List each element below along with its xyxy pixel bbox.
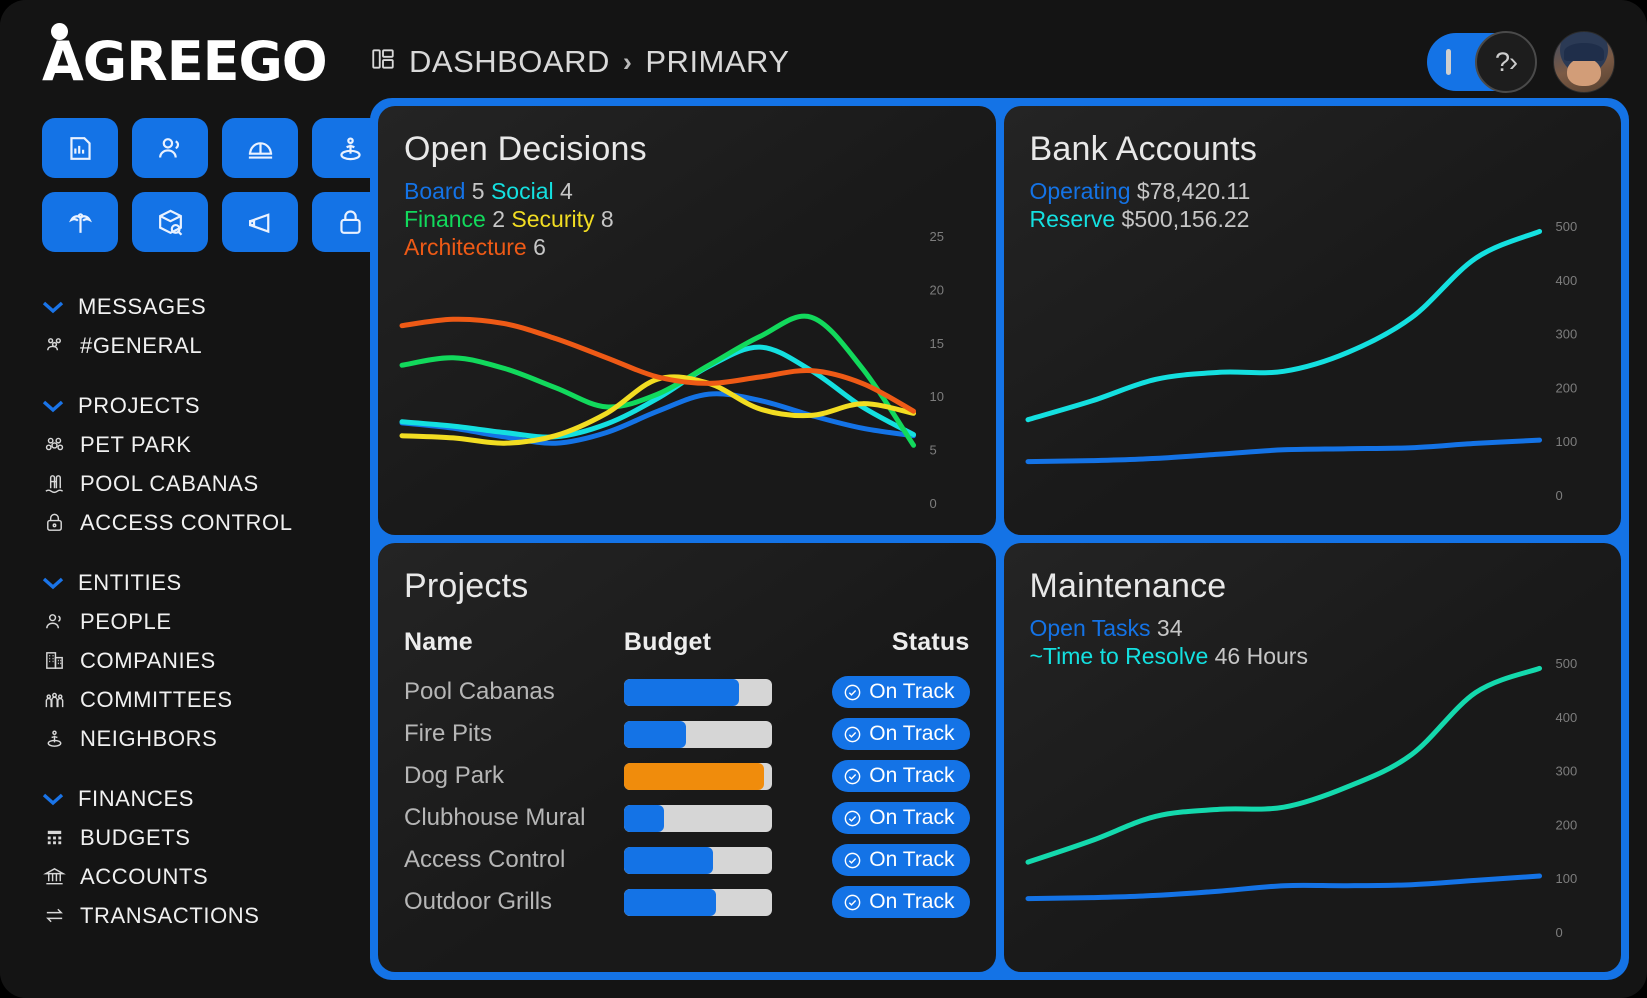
nav-group-finances: FINANCES BUDGETS ACCOUNTS TRANSACTIONS xyxy=(42,780,370,935)
sidebar-item-pool-cabanas[interactable]: POOL CABANAS xyxy=(42,464,370,503)
sidebar-item-label: TRANSACTIONS xyxy=(80,903,260,929)
sidebar-item-label: NEIGHBORS xyxy=(80,726,217,752)
y-axis-tick: 100 xyxy=(1555,434,1577,449)
tile-construction[interactable] xyxy=(222,118,298,178)
sidebar-item-general[interactable]: #GENERAL xyxy=(42,326,370,365)
y-axis-tick: 500 xyxy=(1555,656,1577,671)
sidebar-item-label: PET PARK xyxy=(80,432,192,458)
committee-icon xyxy=(42,688,66,712)
y-axis-tick: 300 xyxy=(1555,764,1577,779)
sidebar-item-label: ACCOUNTS xyxy=(80,864,208,890)
legend-label-board: Board xyxy=(404,178,465,204)
tile-announcements[interactable] xyxy=(222,192,298,252)
main-content: DASHBOARD › PRIMARY ?› Open Decisions Bo… xyxy=(370,0,1647,998)
y-axis-tick: 200 xyxy=(1555,817,1577,832)
budget-progress-bar xyxy=(624,889,772,916)
nav-head-projects[interactable]: PROJECTS xyxy=(42,387,370,425)
y-axis-tick: 20 xyxy=(930,282,944,297)
paw-icon xyxy=(42,433,66,457)
y-axis-tick: 10 xyxy=(930,389,944,404)
tile-inventory[interactable] xyxy=(132,192,208,252)
status-badge[interactable]: On Track xyxy=(832,844,969,876)
budget-progress-bar xyxy=(624,721,772,748)
quick-tiles xyxy=(42,118,370,252)
projects-table-body: Pool CabanasOn TrackFire PitsOn TrackDog… xyxy=(404,671,970,923)
y-axis-tick: 0 xyxy=(1555,925,1562,940)
user-avatar[interactable] xyxy=(1553,31,1615,93)
chart-line-operating xyxy=(1028,440,1540,462)
y-axis-tick: 15 xyxy=(930,336,944,351)
topbar: DASHBOARD › PRIMARY ?› xyxy=(370,26,1629,98)
budget-progress-bar xyxy=(624,847,772,874)
transfer-arrows-icon xyxy=(42,904,66,928)
project-budget-cell xyxy=(624,797,803,839)
legend-value-operating: $78,420.11 xyxy=(1137,178,1250,204)
check-circle-icon xyxy=(843,851,862,870)
y-axis-tick: 0 xyxy=(930,496,937,511)
grid-dots-icon xyxy=(42,826,66,850)
status-badge[interactable]: On Track xyxy=(832,886,969,918)
maintenance-chart: 5004003002001000 xyxy=(1028,653,1598,942)
status-label: On Track xyxy=(869,890,954,914)
sidebar-item-access-control[interactable]: ACCESS CONTROL xyxy=(42,503,370,542)
dashboard-grid: Open Decisions Board 5 Social 4 Finance … xyxy=(370,98,1629,980)
chevron-down-icon xyxy=(42,395,64,417)
check-circle-icon xyxy=(843,893,862,912)
check-circle-icon xyxy=(843,809,862,828)
table-row[interactable]: Pool CabanasOn Track xyxy=(404,671,970,713)
card-title: Projects xyxy=(404,567,970,606)
table-row[interactable]: Outdoor GrillsOn Track xyxy=(404,881,970,923)
status-label: On Track xyxy=(869,806,954,830)
projects-table: Name Budget Status Pool CabanasOn TrackF… xyxy=(404,628,970,923)
legend-value-board: 5 xyxy=(472,178,485,204)
nav-group-projects: PROJECTS PET PARK POOL CABANAS ACCESS CO… xyxy=(42,387,370,542)
nav-head-entities[interactable]: ENTITIES xyxy=(42,564,370,602)
chevron-down-icon xyxy=(42,788,64,810)
check-circle-icon xyxy=(843,683,862,702)
budget-progress-bar xyxy=(624,763,772,790)
project-name: Pool Cabanas xyxy=(404,671,624,713)
tile-reports[interactable] xyxy=(42,118,118,178)
tile-landscape[interactable] xyxy=(42,192,118,252)
sidebar-item-neighbors[interactable]: NEIGHBORS xyxy=(42,719,370,758)
sidebar-item-people[interactable]: PEOPLE xyxy=(42,602,370,641)
project-name: Dog Park xyxy=(404,755,624,797)
table-row[interactable]: Access ControlOn Track xyxy=(404,839,970,881)
project-name: Clubhouse Mural xyxy=(404,797,624,839)
help-toggle[interactable]: ?› xyxy=(1427,33,1535,91)
column-header-budget: Budget xyxy=(624,628,803,671)
nav-head-finances[interactable]: FINANCES xyxy=(42,780,370,818)
card-title: Maintenance xyxy=(1030,567,1596,606)
y-axis-tick: 100 xyxy=(1555,871,1577,886)
breadcrumb: DASHBOARD › PRIMARY xyxy=(370,44,790,80)
status-badge[interactable]: On Track xyxy=(832,802,969,834)
sidebar-item-label: COMPANIES xyxy=(80,648,216,674)
nav-head-messages[interactable]: MESSAGES xyxy=(42,288,370,326)
card-maintenance: Maintenance Open Tasks 34 ~Time to Resol… xyxy=(1004,543,1622,972)
logo-mark: A xyxy=(42,30,83,93)
check-circle-icon xyxy=(843,725,862,744)
chart-line-reserve xyxy=(1028,231,1540,419)
status-label: On Track xyxy=(869,722,954,746)
nav-head-label: FINANCES xyxy=(78,786,194,812)
table-header-row: Name Budget Status xyxy=(404,628,970,671)
status-badge[interactable]: On Track xyxy=(832,760,969,792)
app-logo[interactable]: AGREEGO xyxy=(42,30,370,92)
project-budget-cell xyxy=(624,713,803,755)
project-budget-cell xyxy=(624,755,803,797)
nav-head-label: MESSAGES xyxy=(78,294,206,320)
chevron-down-icon xyxy=(42,572,64,594)
tile-people[interactable] xyxy=(132,118,208,178)
project-status-cell: On Track xyxy=(803,713,969,755)
card-title: Open Decisions xyxy=(404,130,970,169)
table-row[interactable]: Fire PitsOn Track xyxy=(404,713,970,755)
project-status-cell: On Track xyxy=(803,671,969,713)
sidebar-item-pet-park[interactable]: PET PARK xyxy=(42,425,370,464)
status-label: On Track xyxy=(869,764,954,788)
people-icon xyxy=(42,610,66,634)
layout-dashboard-icon xyxy=(370,44,396,80)
project-budget-cell xyxy=(624,881,803,923)
sidebar-item-companies[interactable]: COMPANIES xyxy=(42,641,370,680)
nav-group-entities: ENTITIES PEOPLE COMPANIES COMMITTEES NEI… xyxy=(42,564,370,758)
sidebar-item-label: POOL CABANAS xyxy=(80,471,259,497)
table-row[interactable]: Dog ParkOn Track xyxy=(404,755,970,797)
card-bank-accounts: Bank Accounts Operating $78,420.11 Reser… xyxy=(1004,106,1622,535)
toggle-track-bar xyxy=(1446,49,1451,75)
project-status-cell: On Track xyxy=(803,839,969,881)
legend-value-open-tasks: 34 xyxy=(1157,615,1183,641)
nav-group-messages: MESSAGES #GENERAL xyxy=(42,288,370,365)
sidebar-nav: MESSAGES #GENERAL PROJECTS PET PARK xyxy=(42,288,370,935)
column-header-status: Status xyxy=(803,628,969,671)
sidebar-item-accounts[interactable]: ACCOUNTS xyxy=(42,857,370,896)
status-badge[interactable]: On Track xyxy=(832,676,969,708)
building-icon xyxy=(42,649,66,673)
breadcrumb-item-primary[interactable]: PRIMARY xyxy=(645,44,789,80)
y-axis-tick: 400 xyxy=(1555,273,1577,288)
bank-accounts-chart: 5004003002001000 xyxy=(1028,216,1598,505)
help-toggle-knob[interactable]: ?› xyxy=(1475,31,1537,93)
legend-label-open-tasks: Open Tasks xyxy=(1030,615,1151,641)
project-name: Access Control xyxy=(404,839,624,881)
legend-label-social: Social xyxy=(491,178,554,204)
y-axis-tick: 400 xyxy=(1555,710,1577,725)
y-axis-tick: 200 xyxy=(1555,380,1577,395)
legend-value-social: 4 xyxy=(560,178,573,204)
group-chat-icon xyxy=(42,334,66,358)
card-open-decisions: Open Decisions Board 5 Social 4 Finance … xyxy=(378,106,996,535)
sidebar-item-transactions[interactable]: TRANSACTIONS xyxy=(42,896,370,935)
fountain-icon xyxy=(42,727,66,751)
status-label: On Track xyxy=(869,680,954,704)
app-window: AGREEGO xyxy=(0,0,1647,998)
budget-progress-bar xyxy=(624,679,772,706)
nav-head-label: ENTITIES xyxy=(78,570,182,596)
sidebar-item-label: PEOPLE xyxy=(80,609,172,635)
project-name: Fire Pits xyxy=(404,713,624,755)
open-decisions-chart: 2520151050 xyxy=(402,226,972,513)
logo-text: GREEGO xyxy=(83,30,327,93)
sidebar: AGREEGO xyxy=(0,0,370,998)
breadcrumb-separator: › xyxy=(623,47,633,78)
nav-head-label: PROJECTS xyxy=(78,393,200,419)
table-row[interactable]: Clubhouse MuralOn Track xyxy=(404,797,970,839)
status-label: On Track xyxy=(869,848,954,872)
project-budget-cell xyxy=(624,839,803,881)
status-badge[interactable]: On Track xyxy=(832,718,969,750)
project-name: Outdoor Grills xyxy=(404,881,624,923)
pool-icon xyxy=(42,472,66,496)
y-axis-tick: 500 xyxy=(1555,219,1577,234)
y-axis-tick: 0 xyxy=(1555,488,1562,503)
legend-label-operating: Operating xyxy=(1030,178,1131,204)
sidebar-item-budgets[interactable]: BUDGETS xyxy=(42,818,370,857)
chart-line-open-tasks xyxy=(1028,876,1540,899)
breadcrumb-item-dashboard[interactable]: DASHBOARD xyxy=(409,44,610,80)
y-axis-tick: 300 xyxy=(1555,327,1577,342)
y-axis-tick: 5 xyxy=(930,443,937,458)
bank-icon xyxy=(42,865,66,889)
project-status-cell: On Track xyxy=(803,797,969,839)
project-status-cell: On Track xyxy=(803,755,969,797)
project-status-cell: On Track xyxy=(803,881,969,923)
budget-progress-bar xyxy=(624,805,772,832)
project-budget-cell xyxy=(624,671,803,713)
y-axis-tick: 25 xyxy=(930,229,944,244)
padlock-icon xyxy=(42,511,66,535)
sidebar-item-label: ACCESS CONTROL xyxy=(80,510,293,536)
sidebar-item-label: #GENERAL xyxy=(80,333,202,359)
column-header-name: Name xyxy=(404,628,624,671)
check-circle-icon xyxy=(843,767,862,786)
sidebar-item-label: BUDGETS xyxy=(80,825,191,851)
sidebar-item-label: COMMITTEES xyxy=(80,687,233,713)
card-projects: Projects Name Budget Status Pool Cabanas… xyxy=(378,543,996,972)
sidebar-item-committees[interactable]: COMMITTEES xyxy=(42,680,370,719)
chevron-down-icon xyxy=(42,296,64,318)
card-title: Bank Accounts xyxy=(1030,130,1596,169)
chart-line-resolve-time xyxy=(1028,668,1540,862)
